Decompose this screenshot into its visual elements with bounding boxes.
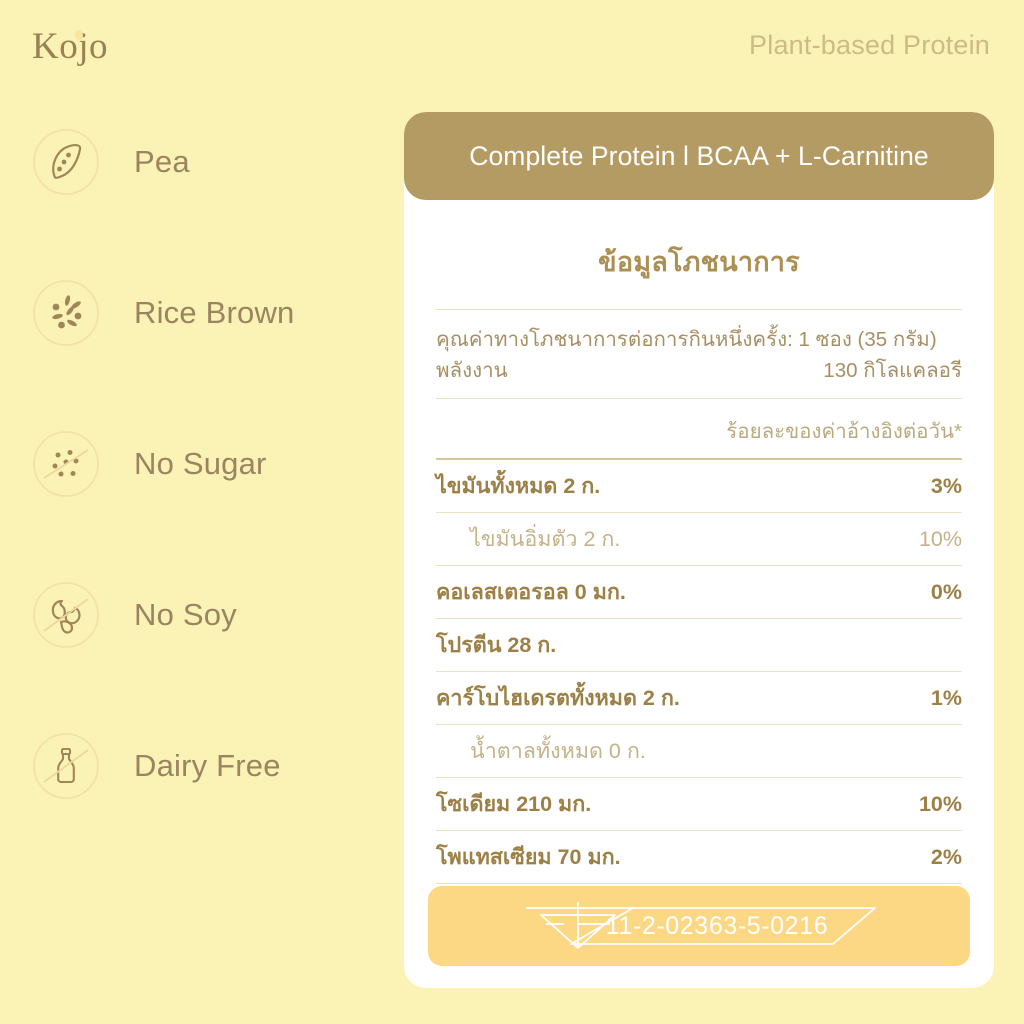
nutrition-row: น้ำตาลทั้งหมด 0 ก.	[436, 725, 962, 777]
feature-item-pea: Pea	[30, 110, 390, 213]
nutrition-row: คอเลสเตอรอล 0 มก. 0%	[436, 566, 962, 618]
nutrition-row-dv: 10%	[919, 527, 962, 552]
nutrition-row-dv: 1%	[931, 686, 962, 711]
nutrition-title: ข้อมูลโภชนาการ	[436, 240, 962, 283]
energy-value: 130 กิโลแคลอรี	[823, 355, 962, 386]
energy-label: พลังงาน	[436, 355, 508, 386]
nutrition-row: โซเดียม 210 มก. 10%	[436, 778, 962, 830]
nutrition-row-name: น้ำตาลทั้งหมด 0 ก.	[436, 734, 646, 768]
nutrition-row: ไขมันอิ่มตัว 2 ก. 10%	[436, 513, 962, 565]
no-soy-icon	[30, 579, 102, 651]
feature-item-dairy-free: Dairy Free	[30, 714, 390, 817]
feature-item-no-soy: No Soy	[30, 563, 390, 666]
serving-size-text: คุณค่าทางโภชนาการต่อการกินหนึ่งครั้ง: 1 …	[436, 324, 962, 355]
nutrition-row-dv: 0%	[931, 580, 962, 605]
nutrition-row-dv: 3%	[931, 474, 962, 499]
nutrition-row-dv: 10%	[919, 792, 962, 817]
daily-value-header: ร้อยละของค่าอ้างอิงต่อวัน*	[436, 399, 962, 458]
nutrition-row-name: โพแทสเซียม 70 มก.	[436, 840, 621, 874]
card-banner: Complete Protein l BCAA + L-Carnitine	[404, 112, 994, 200]
card-banner-text: Complete Protein l BCAA + L-Carnitine	[469, 141, 929, 172]
fda-registration-badge: 11-2-02363-5-0216	[428, 886, 970, 966]
feature-item-rice-brown: Rice Brown	[30, 261, 390, 364]
feature-list: Pea Rice Brown	[30, 110, 390, 865]
no-sugar-icon	[30, 428, 102, 500]
rice-grains-icon	[30, 277, 102, 349]
feature-label-no-soy: No Soy	[134, 597, 237, 633]
no-dairy-bottle-icon	[30, 730, 102, 802]
nutrition-row-name: ไขมันทั้งหมด 2 ก.	[436, 469, 600, 503]
energy-row: พลังงาน 130 กิโลแคลอรี	[436, 355, 962, 386]
serving-block: คุณค่าทางโภชนาการต่อการกินหนึ่งครั้ง: 1 …	[436, 310, 962, 398]
pea-pod-icon	[30, 126, 102, 198]
feature-label-no-sugar: No Sugar	[134, 446, 267, 482]
nutrition-row: คาร์โบไฮเดรตทั้งหมด 2 ก. 1%	[436, 672, 962, 724]
feature-item-no-sugar: No Sugar	[30, 412, 390, 515]
nutrition-row-name: คอเลสเตอรอล 0 มก.	[436, 575, 626, 609]
header-tagline: Plant-based Protein	[749, 30, 990, 61]
feature-label-rice-brown: Rice Brown	[134, 295, 295, 331]
nutrition-row: โพแทสเซียม 70 มก. 2%	[436, 831, 962, 883]
feature-label-pea: Pea	[134, 144, 190, 180]
nutrition-row-dv: 2%	[931, 845, 962, 870]
nutrition-card-body: ข้อมูลโภชนาการ คุณค่าทางโภชนาการต่อการกิ…	[404, 240, 994, 950]
feature-label-dairy-free: Dairy Free	[134, 748, 281, 784]
nutrition-facts-card: Complete Protein l BCAA + L-Carnitine ข้…	[404, 112, 994, 988]
nutrition-row-name: โปรตีน 28 ก.	[436, 628, 556, 662]
nutrition-row: ไขมันทั้งหมด 2 ก. 3%	[436, 460, 962, 512]
brand-logo-text: Kojo	[32, 26, 108, 67]
nutrition-row-name: คาร์โบไฮเดรตทั้งหมด 2 ก.	[436, 681, 680, 715]
nutrition-row: โปรตีน 28 ก.	[436, 619, 962, 671]
brand-logo: Kojo	[32, 28, 108, 65]
page-header: Kojo Plant-based Protein	[0, 0, 1024, 100]
thai-fda-mark-icon	[428, 886, 970, 966]
nutrition-row-name: ไขมันอิ่มตัว 2 ก.	[436, 522, 620, 556]
nutrition-row-name: โซเดียม 210 มก.	[436, 787, 591, 821]
